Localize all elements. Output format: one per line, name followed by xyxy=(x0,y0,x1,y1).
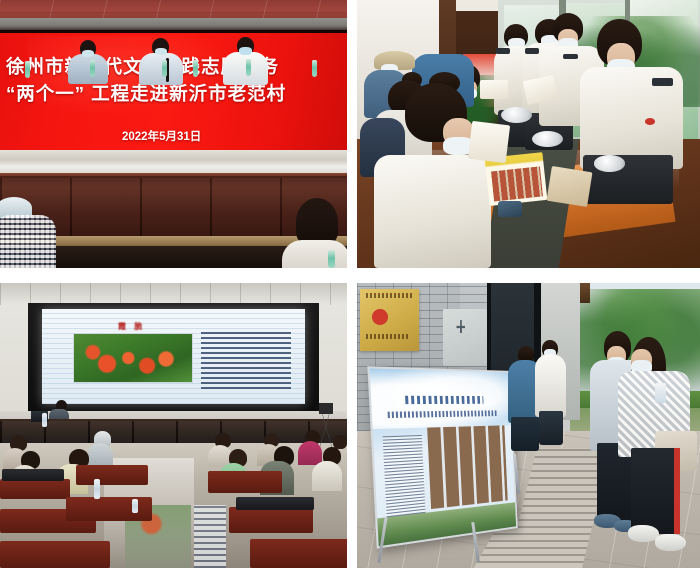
photo-top-left-conference-hall: 徐州市新时代文明实践志愿服务 “两个一” 工程走进新沂市老范村 2022年5月3… xyxy=(0,0,347,268)
plaque-emblem-icon xyxy=(372,309,388,325)
display-board xyxy=(367,366,517,549)
paper-stack xyxy=(480,80,507,99)
plate xyxy=(594,155,625,171)
chair-cushion xyxy=(236,497,314,510)
brochure-paper xyxy=(468,121,510,163)
slide-body-text xyxy=(201,331,291,389)
water-bottle xyxy=(94,479,100,499)
lecture-desk-panels xyxy=(0,421,347,445)
water-bottle xyxy=(25,61,30,78)
official-plaque xyxy=(360,289,418,352)
chair xyxy=(229,507,313,533)
banner-line-2: “两个一” 工程走进新沂市老范村 xyxy=(6,82,347,106)
chair-cushion xyxy=(2,469,64,481)
photo-top-right-brochure-distribution xyxy=(357,0,700,268)
chair xyxy=(250,539,347,568)
chair xyxy=(76,465,148,485)
board-text-column xyxy=(382,434,425,516)
slide-reflection-text xyxy=(194,505,225,568)
chair xyxy=(0,479,70,499)
plaque-text-top xyxy=(366,293,414,298)
water-bottle xyxy=(42,413,47,427)
camera-tripod xyxy=(319,403,333,449)
water-bottle xyxy=(132,499,138,513)
water-bottle xyxy=(162,60,167,77)
water-bottle xyxy=(312,60,317,77)
chair xyxy=(208,471,282,493)
slide-fruit-photo xyxy=(73,333,193,383)
chair xyxy=(0,541,110,568)
photo-collage: 徐州市新时代文明实践志愿服务 “两个一” 工程走进新沂市老范村 2022年5月3… xyxy=(0,0,700,568)
photo-bottom-left-lecture-hall: 霞 脆 xyxy=(0,283,347,568)
chair xyxy=(66,497,152,521)
board-subtitle-text xyxy=(387,410,496,418)
phone-on-table xyxy=(498,201,522,217)
wall-sign xyxy=(443,309,488,366)
board-photo-grid xyxy=(427,425,507,508)
water-bottle xyxy=(193,60,198,77)
water-bottle xyxy=(246,59,251,76)
photo-bottom-right-display-board xyxy=(357,283,700,568)
brochure-folded xyxy=(547,166,593,207)
water-bottle xyxy=(655,383,665,403)
slide-title: 霞 脆 xyxy=(118,321,145,332)
banner-date: 2022年5月31日 xyxy=(122,128,201,144)
water-bottle xyxy=(90,60,95,77)
board-title-text xyxy=(405,395,483,404)
plaque-text-bottom xyxy=(366,334,411,339)
ceiling-panel-grid xyxy=(0,283,347,305)
